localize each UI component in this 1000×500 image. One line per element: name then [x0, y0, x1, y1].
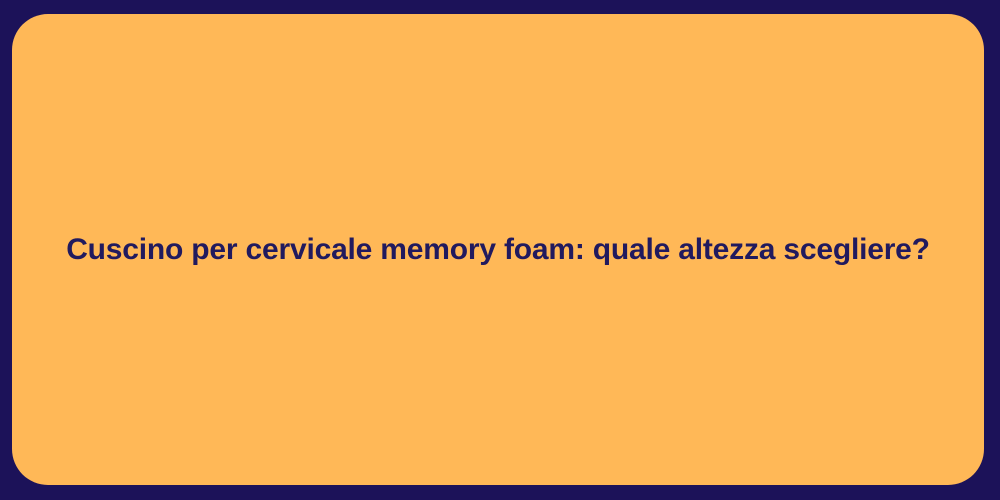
- page-title: Cuscino per cervicale memory foam: quale…: [12, 231, 984, 269]
- banner-card: Cuscino per cervicale memory foam: quale…: [12, 14, 984, 485]
- banner-frame: Cuscino per cervicale memory foam: quale…: [0, 0, 1000, 500]
